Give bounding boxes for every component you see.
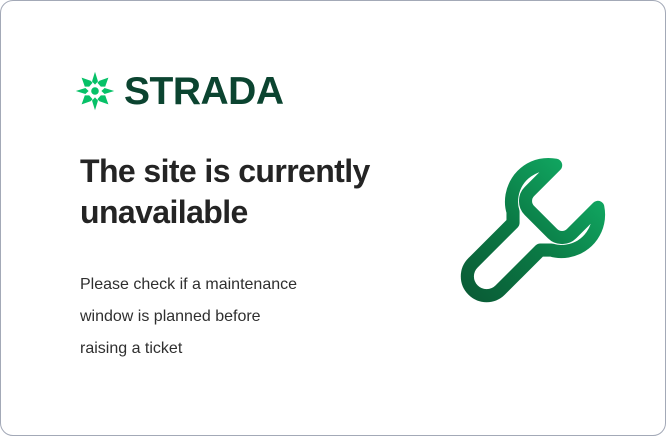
maintenance-illustration (453, 149, 617, 313)
asterisk-starburst-icon (75, 71, 115, 111)
description-line: window is planned before (80, 301, 420, 333)
brand-lockup: STRADA (75, 67, 284, 115)
page-description: Please check if a maintenance window is … (80, 233, 420, 365)
maintenance-page: STRADA The site is currently unavailable… (0, 0, 666, 436)
brand-wordmark: STRADA (124, 72, 284, 111)
wrench-icon (453, 149, 617, 313)
description-line: raising a ticket (80, 333, 420, 365)
message-block: The site is currently unavailable Please… (80, 151, 420, 365)
page-title: The site is currently unavailable (80, 151, 420, 233)
description-line: Please check if a maintenance (80, 269, 420, 301)
strada-logo-mark (75, 71, 115, 111)
